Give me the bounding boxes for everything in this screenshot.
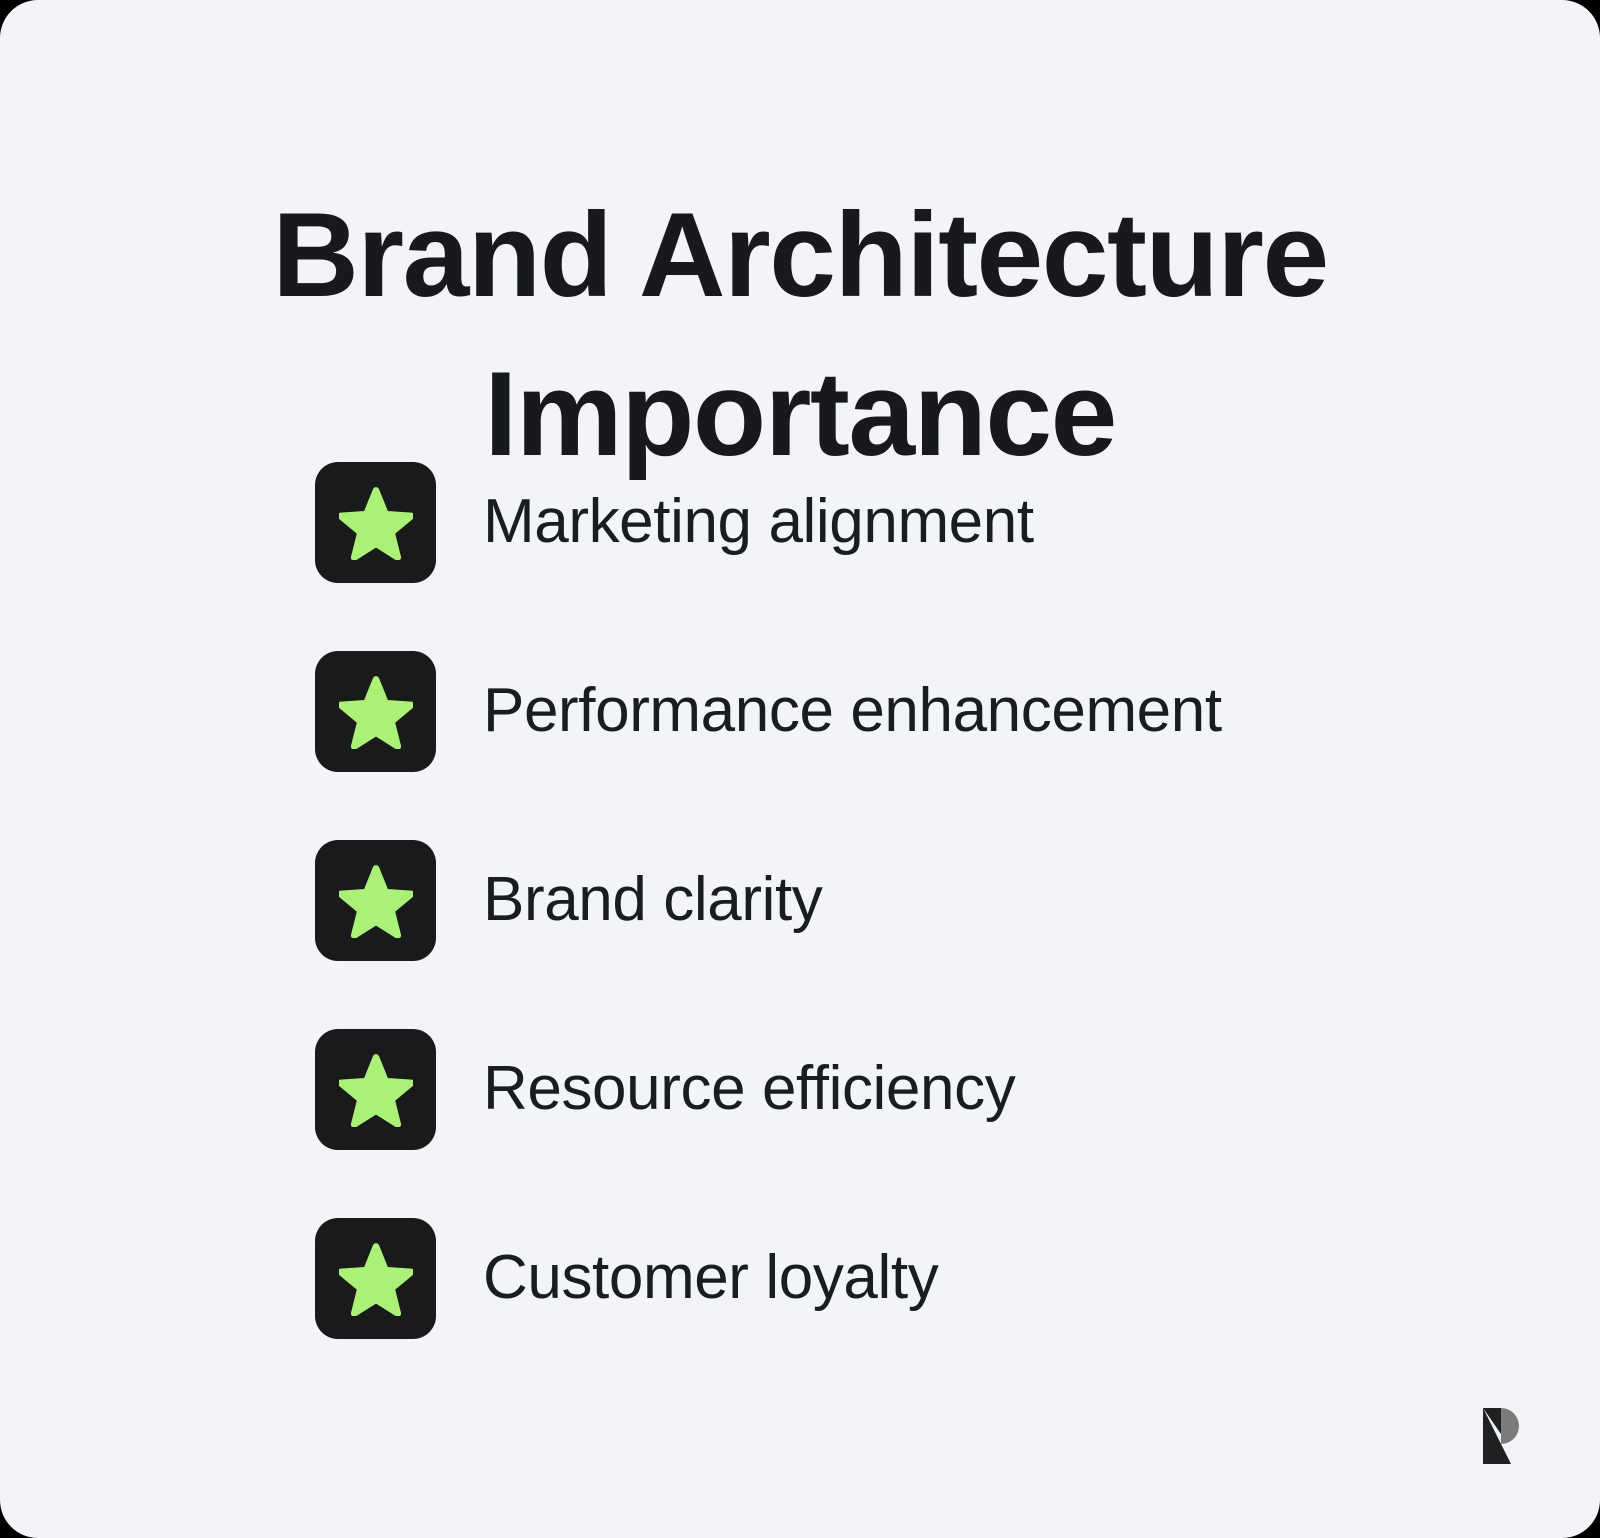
star-icon-badge: [315, 840, 436, 961]
star-icon-badge: [315, 1218, 436, 1339]
list-item-label: Marketing alignment: [483, 488, 1034, 556]
r-monogram-icon: [1483, 1406, 1543, 1468]
benefits-list: Marketing alignment Performance enhancem…: [315, 462, 1495, 1339]
star-icon: [339, 864, 413, 938]
list-item-label: Performance enhancement: [483, 677, 1222, 745]
list-item[interactable]: Performance enhancement: [315, 651, 1495, 772]
list-item-label: Brand clarity: [483, 866, 822, 934]
r-monogram-logo: [1483, 1406, 1543, 1468]
page-title: Brand Architecture Importance: [0, 176, 1600, 493]
list-item[interactable]: Marketing alignment: [315, 462, 1495, 583]
star-icon-badge: [315, 651, 436, 772]
star-icon: [339, 1242, 413, 1316]
slide-card: Brand Architecture Importance Marketing …: [0, 0, 1600, 1538]
list-item[interactable]: Resource efficiency: [315, 1029, 1495, 1150]
star-icon: [339, 675, 413, 749]
star-icon-badge: [315, 1029, 436, 1150]
star-icon: [339, 1053, 413, 1127]
list-item-label: Resource efficiency: [483, 1055, 1015, 1123]
list-item[interactable]: Brand clarity: [315, 840, 1495, 961]
star-icon-badge: [315, 462, 436, 583]
list-item-label: Customer loyalty: [483, 1244, 938, 1312]
list-item[interactable]: Customer loyalty: [315, 1218, 1495, 1339]
star-icon: [339, 486, 413, 560]
